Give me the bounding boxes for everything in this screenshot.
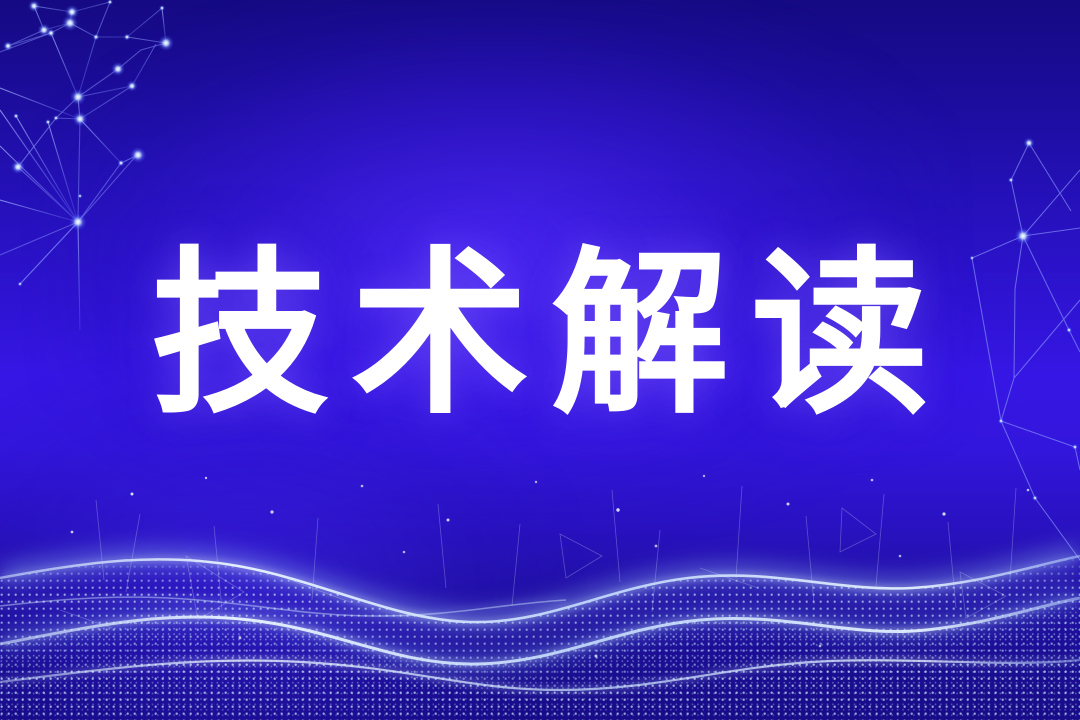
title-block: 技术解读 <box>0 246 1080 424</box>
particle-wave-field <box>0 460 1080 720</box>
wave-crests <box>0 460 1080 720</box>
dot-matrix-back <box>0 460 1080 720</box>
poster-canvas: 技术解读 <box>0 0 1080 720</box>
wave-sparks <box>0 460 1080 720</box>
poster-title: 技术解读 <box>129 246 951 424</box>
